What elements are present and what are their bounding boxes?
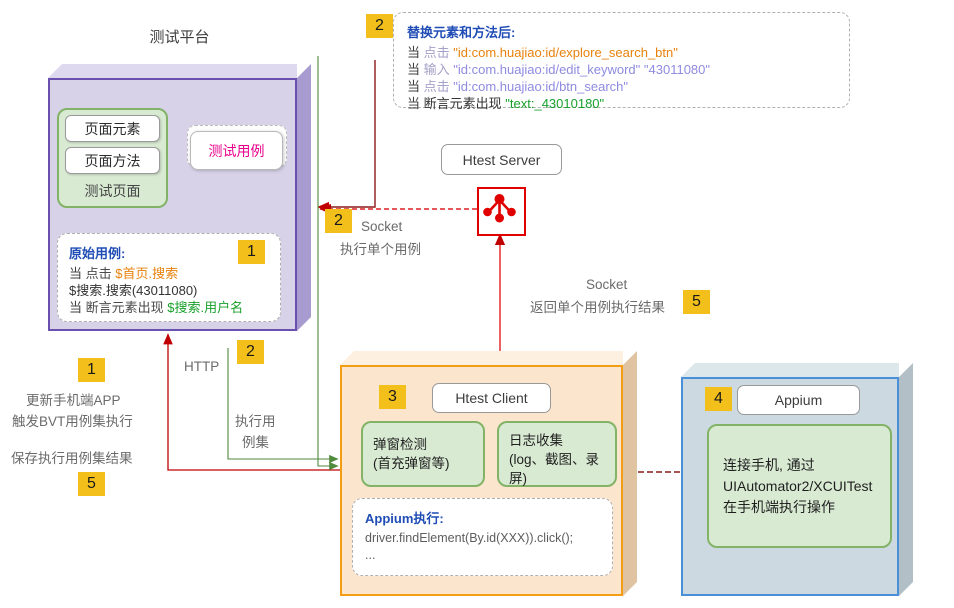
step-badge-2-socket-exec: 2 xyxy=(325,209,352,233)
original-case-line3-suffix: .用户名 xyxy=(201,300,244,315)
socket-return-label-line2: 返回单个用例执行结果 xyxy=(530,296,665,316)
replaced-line3-arg1: "id:com.huajiao:id/btn_search" xyxy=(453,79,628,94)
htest-server-label: Htest Server xyxy=(441,144,562,175)
flow-step1-line-1: 更新手机端APP xyxy=(26,389,121,409)
phone-connection-line-2: UIAutomator2/XCUITest xyxy=(723,476,876,497)
replaced-line1-verb: 点击 xyxy=(424,45,450,60)
replaced-note-title: 替换元素和方法后: xyxy=(407,22,836,41)
replaced-line4-dang: 当 xyxy=(407,96,420,111)
test-case-card[interactable]: 测试用例 xyxy=(190,131,283,170)
original-case-line3-target: $搜索 xyxy=(167,300,200,315)
replaced-line4-arg1: "text:_43010180" xyxy=(505,96,604,111)
page-elements-pill[interactable]: 页面元素 xyxy=(65,115,160,142)
wire-exec-caseset xyxy=(318,56,338,466)
page-methods-pill[interactable]: 页面方法 xyxy=(65,147,160,174)
replaced-line1-arg1: "id:com.huajiao:id/explore_search_btn" xyxy=(453,45,678,60)
log-collection-line-1: 日志收集 xyxy=(509,431,605,450)
replaced-line1-dang: 当 xyxy=(407,45,420,60)
flow-step1-line-2: 触发BVT用例集执行 xyxy=(12,410,133,430)
platform-title: 测试平台 xyxy=(48,26,311,47)
step-badge-1-original-case: 1 xyxy=(238,240,265,264)
original-case-line-1: 当 点击 $首页.搜索 xyxy=(69,265,269,282)
replaced-note-line-4: 当 断言元素出现 "text:_43010180" xyxy=(407,95,836,112)
original-case-line3-dang: 当 xyxy=(69,300,82,315)
step-badge-2-replaced-note: 2 xyxy=(366,14,393,38)
original-case-line1-verb: 点击 xyxy=(86,266,112,281)
log-collection-line-3: 屏) xyxy=(509,469,605,488)
phone-connection-box: 连接手机, 通过 UIAutomator2/XCUITest 在手机端执行操作 xyxy=(707,424,892,548)
flow-step5-line-1: 保存执行用例集结果 xyxy=(11,447,133,467)
replaced-line4-verb: 断言元素出现 xyxy=(424,96,502,111)
phone-connection-line-3: 在手机端执行操作 xyxy=(723,497,876,518)
original-case-line-3: 当 断言元素出现 $搜索.用户名 xyxy=(69,299,269,316)
wire-replaced-note-to-platform xyxy=(318,60,375,207)
client-box-side-face xyxy=(623,351,637,596)
original-case-line1-target: $首页 xyxy=(115,266,148,281)
step-badge-5-save-result: 5 xyxy=(78,472,105,496)
http-label: HTTP xyxy=(184,359,219,374)
original-case-line1-dang: 当 xyxy=(69,266,82,281)
log-collection-line-2: (log、截图、录 xyxy=(509,450,605,469)
log-collection-box: 日志收集 (log、截图、录 屏) xyxy=(497,421,617,487)
replaced-note-line-3: 当 点击 "id:com.huajiao:id/btn_search" xyxy=(407,78,836,95)
socket-exec-label-line1: Socket xyxy=(361,219,402,234)
step-badge-2-exec-caseset: 2 xyxy=(237,340,264,364)
socket-return-label-line1: Socket xyxy=(586,277,627,292)
server-tree-icon xyxy=(477,187,526,236)
step-badge-4-appium: 4 xyxy=(705,387,732,411)
client-box-top-face xyxy=(340,351,623,365)
replaced-line2-verb: 输入 xyxy=(424,62,450,77)
appium-execution-code-2: ... xyxy=(365,547,600,564)
test-page-label: 测试页面 xyxy=(59,181,166,201)
appium-execution-title: Appium执行: xyxy=(365,508,600,527)
appium-execution-code-1: driver.findElement(By.id(XXX)).click(); xyxy=(365,530,600,547)
platform-box-side-face xyxy=(297,64,311,331)
replaced-line3-verb: 点击 xyxy=(424,79,450,94)
original-case-line-2: $搜索.搜索(43011080) xyxy=(69,282,269,299)
replaced-note-line-2: 当 输入 "id:com.huajiao:id/edit_keyword" "4… xyxy=(407,61,836,78)
replaced-elements-note: 替换元素和方法后: 当 点击 "id:com.huajiao:id/explor… xyxy=(393,12,850,108)
replaced-line2-arg1: "id:com.huajiao:id/edit_keyword" xyxy=(453,62,640,77)
step-badge-3-htest-client: 3 xyxy=(379,385,406,409)
popup-detection-line-1: 弹窗检测 xyxy=(373,435,473,454)
platform-box-top-face xyxy=(48,64,297,78)
phone-connection-line-1: 连接手机, 通过 xyxy=(723,455,876,476)
test-page-group: 页面元素 页面方法 测试页面 xyxy=(57,108,168,208)
appium-box-side-face xyxy=(899,363,913,596)
popup-detection-box: 弹窗检测 (首充弹窗等) xyxy=(361,421,485,487)
replaced-line2-dang: 当 xyxy=(407,62,420,77)
step-badge-1-update-app: 1 xyxy=(78,358,105,382)
original-case-line3-verb: 断言元素出现 xyxy=(86,300,164,315)
replaced-line3-dang: 当 xyxy=(407,79,420,94)
popup-detection-line-2: (首充弹窗等) xyxy=(373,454,473,473)
original-case-line1-suffix: .搜索 xyxy=(149,266,179,281)
replaced-note-line-1: 当 点击 "id:com.huajiao:id/explore_search_b… xyxy=(407,44,836,61)
step-badge-5-socket-return: 5 xyxy=(683,290,710,314)
diagram-canvas: 测试平台 页面元素 页面方法 测试页面 测试用例 原始用例: 当 点击 $首页.… xyxy=(0,0,954,608)
socket-exec-label-line2: 执行单个用例 xyxy=(340,238,421,258)
exec-caseset-line-2: 例集 xyxy=(242,431,269,451)
appium-execution-note: Appium执行: driver.findElement(By.id(XXX))… xyxy=(352,498,613,576)
replaced-line2-arg2: "43011080" xyxy=(644,62,710,77)
appium-box-top-face xyxy=(681,363,899,377)
appium-label: Appium xyxy=(737,385,860,415)
exec-caseset-line-1: 执行用 xyxy=(235,410,276,430)
htest-client-label: Htest Client xyxy=(432,383,551,413)
